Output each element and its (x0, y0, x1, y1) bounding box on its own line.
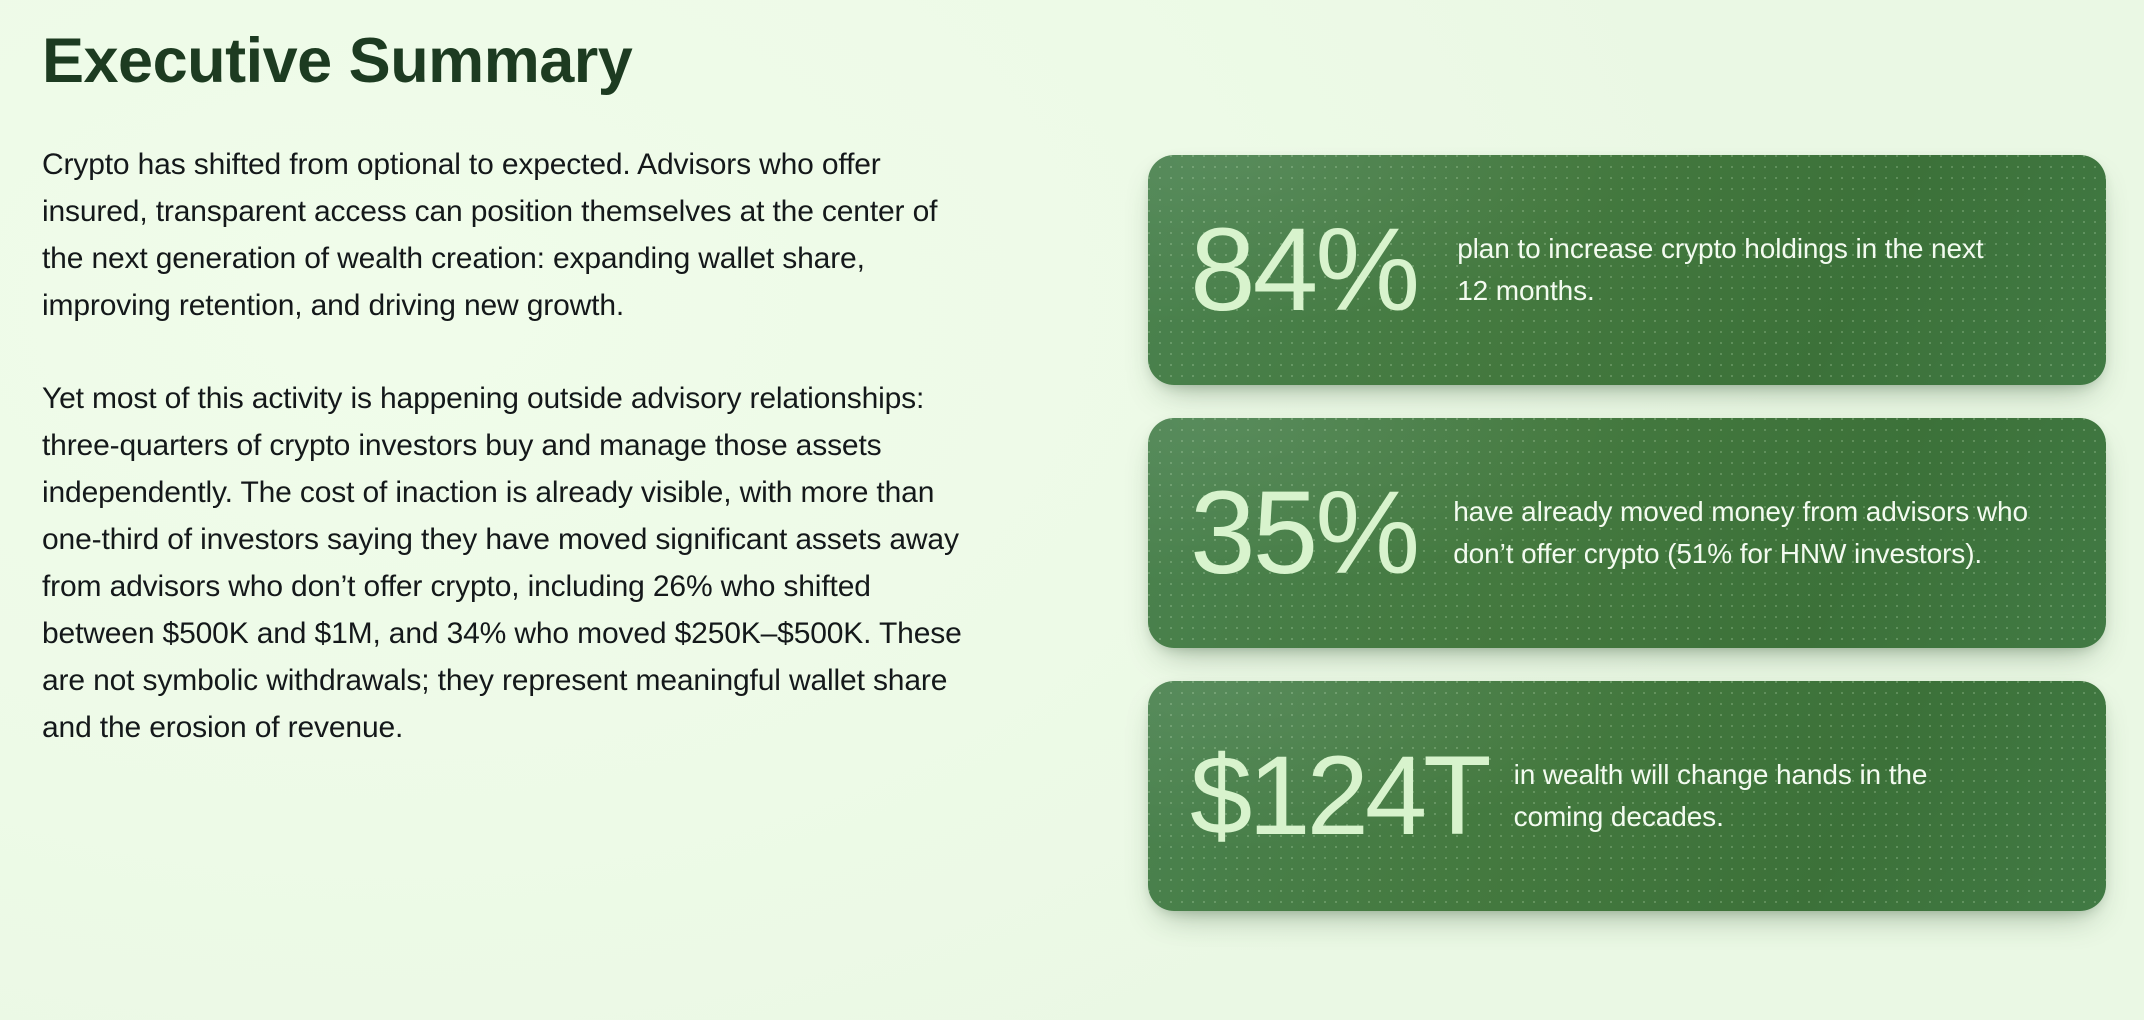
stat-value: $124T (1190, 740, 1488, 852)
summary-paragraph-2: Yet most of this activity is happening o… (42, 375, 967, 751)
stat-card-list: 84% plan to increase crypto holdings in … (1148, 155, 2106, 911)
summary-paragraph-1: Crypto has shifted from optional to expe… (42, 141, 967, 329)
stat-description: plan to increase crypto holdings in the … (1457, 228, 2017, 312)
stat-value: 84% (1190, 211, 1417, 329)
summary-body-copy: Crypto has shifted from optional to expe… (42, 141, 1002, 751)
stat-value: 35% (1190, 474, 1417, 592)
stat-card-35-percent: 35% have already moved money from adviso… (1148, 418, 2106, 648)
stat-card-124-trillion: $124T in wealth will change hands in the… (1148, 681, 2106, 911)
summary-text-column: Executive Summary Crypto has shifted fro… (42, 26, 1002, 751)
stat-description: have already moved money from advisors w… (1453, 491, 2033, 575)
stat-card-84-percent: 84% plan to increase crypto holdings in … (1148, 155, 2106, 385)
executive-summary-page: Executive Summary Crypto has shifted fro… (0, 0, 2144, 1020)
stat-description: in wealth will change hands in the comin… (1514, 754, 1984, 838)
page-title: Executive Summary (42, 26, 1002, 97)
